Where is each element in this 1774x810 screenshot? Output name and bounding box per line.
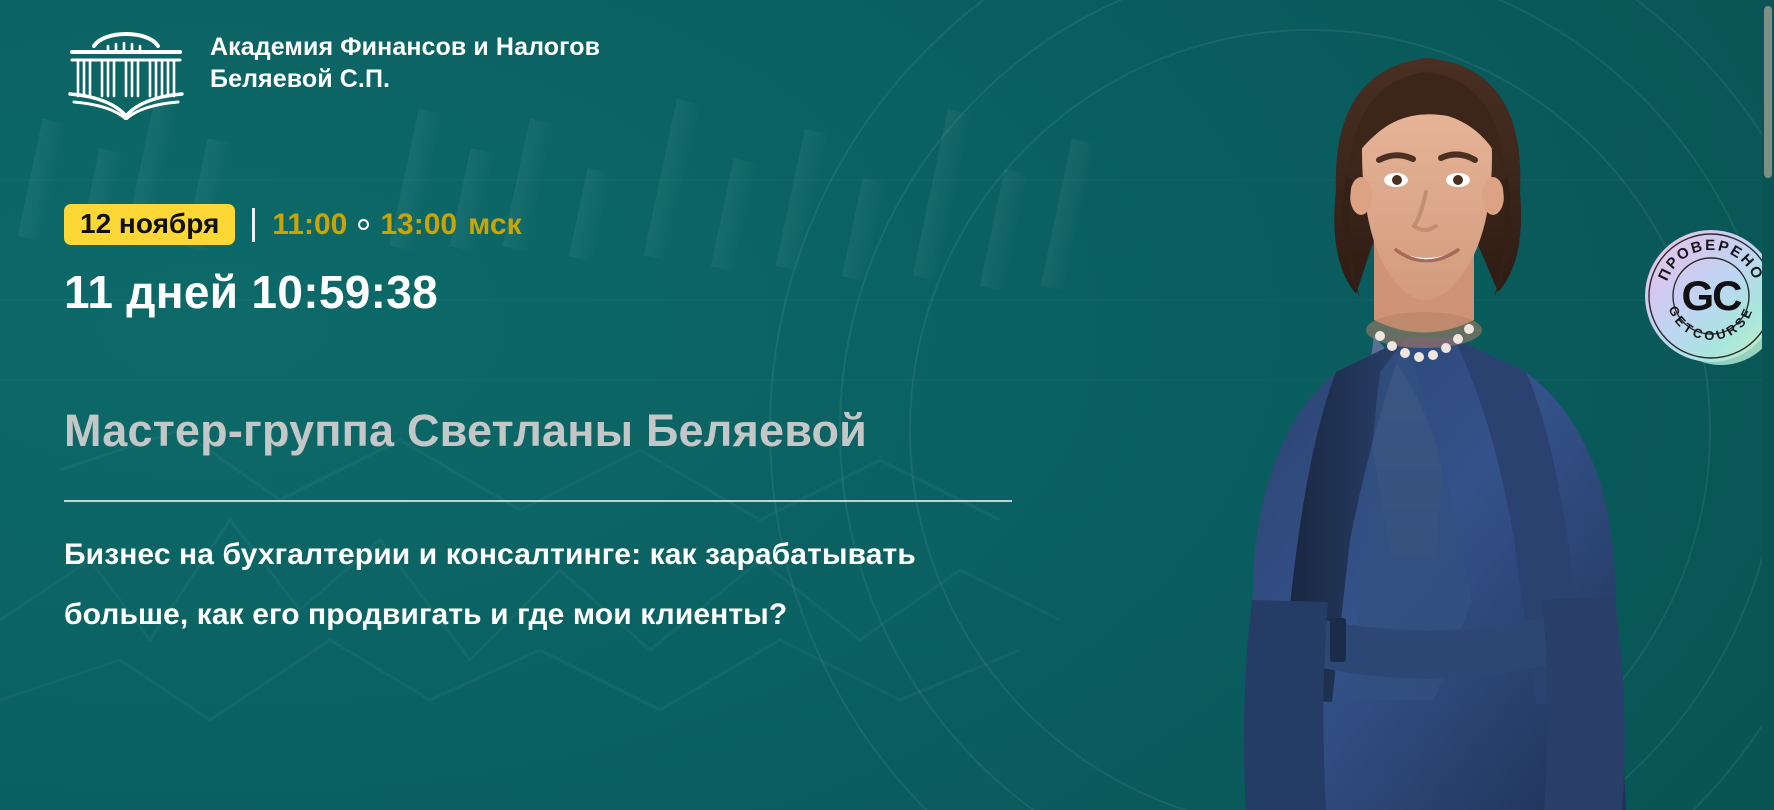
- academy-columns-book-icon: [64, 22, 188, 120]
- page-scrollbar-track[interactable]: [1762, 0, 1774, 810]
- event-timezone: мск: [468, 210, 522, 240]
- countdown-timer: 11 дней 10:59:38: [64, 266, 438, 319]
- page-scrollbar-thumb[interactable]: [1764, 6, 1772, 178]
- page-subtitle: Бизнес на бухгалтерии и консалтинге: как…: [64, 525, 1044, 645]
- event-schedule-row: 12 ноября 11:00 13:00 мск: [64, 204, 522, 245]
- schedule-divider-icon: [252, 208, 255, 242]
- title-divider: [64, 500, 1012, 502]
- badge-center-text: GC: [1682, 272, 1743, 319]
- promo-banner: Академия Финансов и Налогов Беляевой С.П…: [0, 0, 1774, 810]
- brand-name: Академия Финансов и Налогов Беляевой С.П…: [210, 22, 600, 95]
- page-title: Мастер-группа Светланы Беляевой: [64, 405, 867, 457]
- brand-logo[interactable]: Академия Финансов и Налогов Беляевой С.П…: [64, 22, 600, 120]
- speaker-portrait-image: [1074, 0, 1774, 810]
- event-time: 11:00 13:00 мск: [272, 210, 521, 240]
- event-time-start: 11:00: [272, 210, 347, 240]
- getcourse-verified-badge-icon[interactable]: ПРОВЕРЕНО GETCOURSE GC: [1643, 228, 1774, 364]
- event-time-end: 13:00: [380, 210, 457, 240]
- dot-separator-icon: [358, 219, 369, 230]
- event-date-badge: 12 ноября: [64, 204, 235, 245]
